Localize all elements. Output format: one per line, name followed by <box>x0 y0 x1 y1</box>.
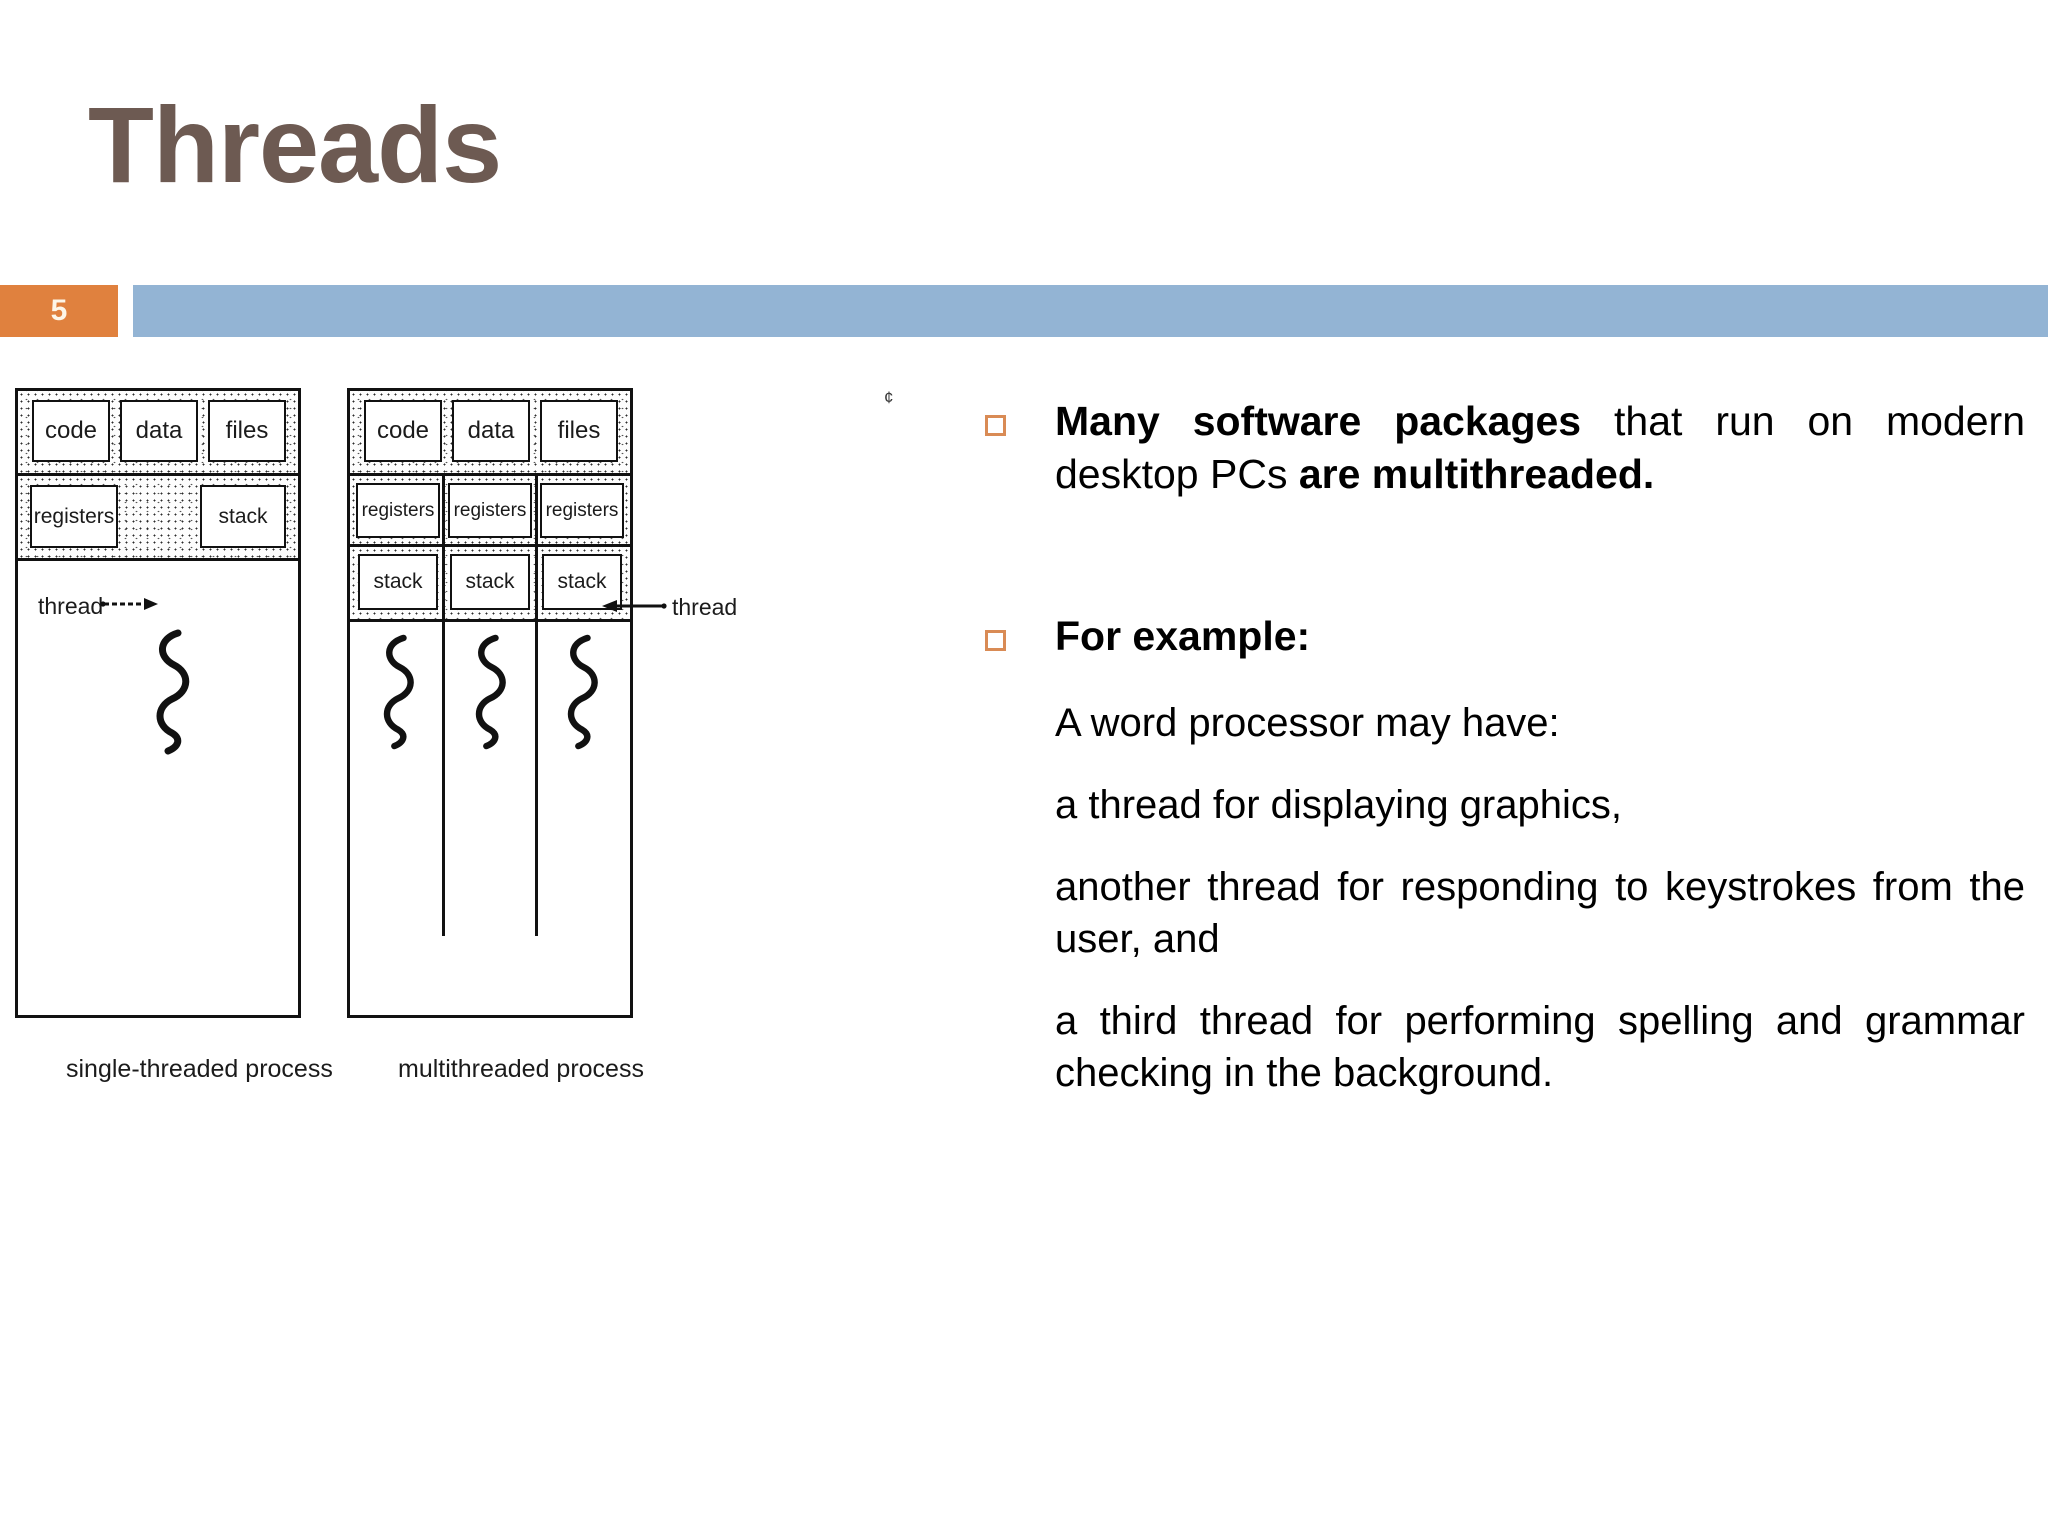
single-thread-squiggle <box>148 629 196 755</box>
multi-cell-code: code <box>364 400 442 462</box>
threads-figure: code data files registers stack thread c… <box>0 370 940 1110</box>
bullet-2-text: For example: <box>1055 610 2025 663</box>
accent-row: 5 <box>0 285 2048 337</box>
multi-thread-squiggle-3 <box>560 633 604 751</box>
page-title: Threads <box>88 88 501 201</box>
multi-cell-stack-1: stack <box>358 554 438 610</box>
hollow-square-bullet-icon <box>985 415 1006 436</box>
single-cell-stack: stack <box>200 485 286 548</box>
bullet-1-text: Many software packages that run on moder… <box>1055 395 2025 502</box>
multithreaded-process-box: code data files registers registers regi… <box>347 388 633 1018</box>
accent-bar <box>133 285 2048 337</box>
body-text-block: Many software packages that run on moder… <box>975 395 2025 1099</box>
multi-cell-data: data <box>452 400 530 462</box>
sub-line-4: a third thread for performing spelling a… <box>975 995 2025 1099</box>
sub-line-3: another thread for responding to keystro… <box>975 861 2025 965</box>
multi-thread-label: thread <box>672 594 737 621</box>
multi-cell-registers-3: registers <box>540 483 624 538</box>
single-threaded-process-box: code data files registers stack <box>15 388 301 1018</box>
multi-cell-registers-2: registers <box>448 483 532 538</box>
single-cell-data: data <box>120 400 198 462</box>
multi-divider-3 <box>350 619 630 622</box>
multi-thread-squiggle-2 <box>468 633 512 751</box>
multi-cell-registers-1: registers <box>356 483 440 538</box>
sub-line-1: A word processor may have: <box>975 697 2025 749</box>
single-cell-files: files <box>208 400 286 462</box>
multi-process-caption: multithreaded process <box>398 1055 644 1084</box>
bullet-item-2: For example: <box>975 610 2025 663</box>
multi-cell-stack-2: stack <box>450 554 530 610</box>
slide-number-badge: 5 <box>0 285 118 337</box>
bullet-item-1: Many software packages that run on moder… <box>975 395 2025 502</box>
stray-ink-mark: ¢ <box>884 388 893 408</box>
hollow-square-bullet-icon <box>985 630 1006 651</box>
spacer <box>975 532 2025 610</box>
single-thread-label: thread <box>38 593 103 620</box>
multi-thread-squiggle-1 <box>376 633 420 751</box>
single-cell-registers: registers <box>30 485 118 548</box>
multi-column-divider-2 <box>535 476 538 936</box>
multi-cell-files: files <box>540 400 618 462</box>
single-cell-code: code <box>32 400 110 462</box>
multi-thread-arrow-icon <box>600 594 668 618</box>
single-process-caption: single-threaded process <box>66 1055 333 1084</box>
sub-line-2: a thread for displaying graphics, <box>975 779 2025 831</box>
single-thread-arrow-icon <box>100 592 160 616</box>
single-divider-2 <box>18 558 298 561</box>
multi-column-divider-1 <box>442 476 445 936</box>
